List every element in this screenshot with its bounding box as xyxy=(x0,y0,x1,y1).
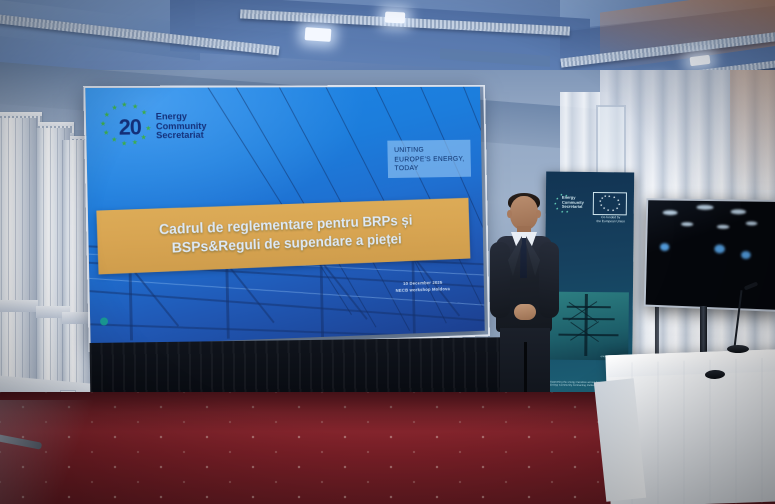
arm-left xyxy=(490,242,510,318)
presentation-screen: ★ ★ ★ ★ ★ ★ ★ ★ ★ ★ ★ ★ 20 Energy Commun… xyxy=(85,87,484,346)
energy-community-logo: ★ ★ ★ ★ ★ ★ ★ ★ ★ ★ ★ ★ 20 Energy Commun… xyxy=(99,101,217,150)
column-band xyxy=(0,300,38,312)
tv-display xyxy=(644,198,775,312)
logo-anniversary-number: 20 xyxy=(118,115,141,141)
slide-meta: 10 December 2025 NECB workshop Moldova xyxy=(395,280,450,294)
ear xyxy=(507,210,512,218)
presenter-person xyxy=(484,196,566,418)
arm-right xyxy=(539,242,559,318)
eu-flag-icon: ★ ★ ★ ★ ★ ★ ★ ★ ★ ★ ★ ★ xyxy=(593,192,627,215)
tagline-line-3: TODAY xyxy=(394,163,464,173)
curtain-warm-light xyxy=(730,70,775,190)
ceiling-light xyxy=(385,11,406,23)
logo-line-3: Secretariat xyxy=(156,131,207,141)
carpet-light-wash xyxy=(0,400,120,504)
column-band xyxy=(62,312,92,324)
conference-room-photo: ★ ★ ★ ★ ★ ★ ★ ★ ★ ★ ★ ★ 20 Energy Commun… xyxy=(0,0,775,504)
tagline-line-2: EUROPE'S ENERGY, xyxy=(394,154,464,164)
column xyxy=(0,118,38,418)
head xyxy=(510,196,538,230)
logo-text: Energy Community Secretariat xyxy=(156,112,207,141)
slide-tagline: UNITING EUROPE'S ENERGY, TODAY xyxy=(388,140,472,178)
eu-funding-caption: Co-funded by the European Union xyxy=(593,215,629,223)
microphone-base xyxy=(727,345,749,353)
ceiling-light xyxy=(305,27,332,42)
ear xyxy=(536,210,541,218)
eu-caption-line-2: the European Union xyxy=(593,219,629,223)
clasped-hands xyxy=(514,304,536,320)
